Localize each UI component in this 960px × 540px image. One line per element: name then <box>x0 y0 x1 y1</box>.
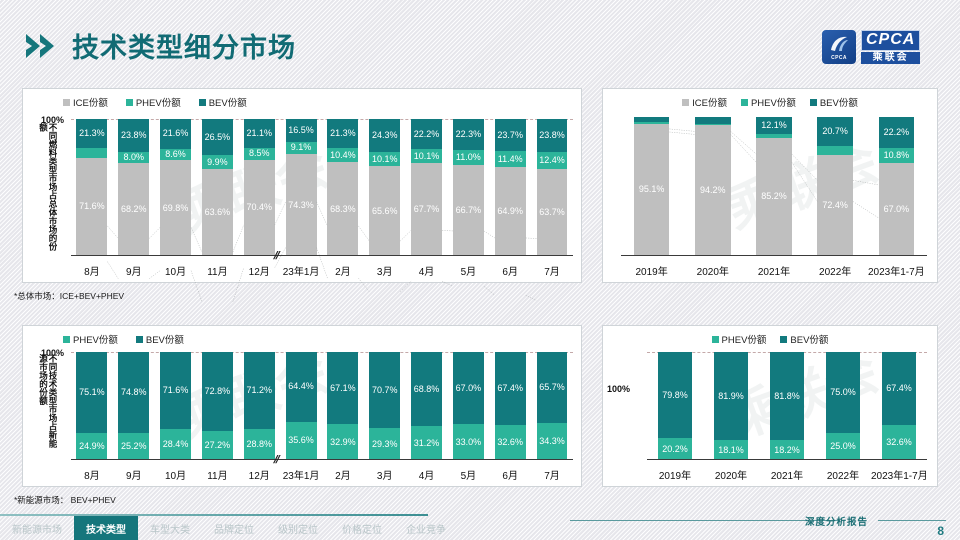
x-axis-label: 2020年 <box>703 467 759 482</box>
bar-segment-phev: 9.1% <box>286 142 317 154</box>
bar-value-label: 33.0% <box>456 438 482 447</box>
bar-value-label: 67.4% <box>497 384 523 393</box>
bar-segment-bev: 22.2% <box>879 117 914 148</box>
bar-value-label: 71.6% <box>163 386 189 395</box>
bar-segment-bev: 79.8% <box>658 352 692 438</box>
x-axis-label: 2021年 <box>759 467 815 482</box>
stacked-bar: 75.1%24.9% <box>76 352 107 460</box>
stacked-bar: 67.1%32.9% <box>327 352 358 460</box>
bar-value-label: 25.0% <box>830 442 856 451</box>
stacked-bar: 79.8%20.2% <box>658 352 692 460</box>
double-chevron-right-icon <box>24 32 66 60</box>
legend-item-ice: ICE份额 <box>682 95 727 109</box>
stacked-bar: 81.9%18.1% <box>714 352 748 460</box>
bar-value-label: 70.4% <box>246 203 272 212</box>
cpca-mark-text: CPCA <box>831 56 847 61</box>
bar-segment-ice: 63.6% <box>202 169 233 256</box>
bar-segment-ice: 63.7% <box>537 169 568 256</box>
x-axis-label: 10月 <box>155 263 197 278</box>
bottom-nav-bar: 新能源市场技术类型车型大类品牌定位级别定位价格定位企业竞争 深度分析报告 8 <box>0 514 960 540</box>
bar-value-label: 31.2% <box>414 439 440 448</box>
bar-segment-phev: 6.9% <box>817 146 852 156</box>
stacked-bar: 22.2%10.1%67.7% <box>411 119 442 256</box>
x-axis-label: 10月 <box>155 467 197 482</box>
bar-segment-ice: 85.2% <box>756 138 791 256</box>
bar-value-label: 21.6% <box>163 129 189 138</box>
bar-segment-phev: 27.2% <box>202 431 233 460</box>
legend-swatch-phev <box>741 99 748 106</box>
bar-value-label: 68.3% <box>330 205 356 214</box>
plot-area-monthly-nev-share: 75.1%24.9%74.8%25.2%71.6%28.4%72.8%27.2%… <box>71 352 573 460</box>
bar-value-label: 24.3% <box>372 131 398 140</box>
bar-value-label: 95.1% <box>639 185 665 194</box>
legend-item-phev: PHEV份额 <box>126 95 181 109</box>
bar-column: 67.4%32.6% <box>871 352 927 460</box>
cpca-logo: CPCA CPCA 乘联会 <box>822 24 942 70</box>
bar-column: 71.6%28.4% <box>155 352 197 460</box>
y-axis-max-label-tl: 100% <box>41 115 64 125</box>
bar-value-label: 18.2% <box>774 446 800 455</box>
bar-segment-phev: 10.1% <box>411 149 442 163</box>
bar-segment-phev: 18.1% <box>714 440 748 460</box>
legend-label-bev: BEV份额 <box>790 332 828 346</box>
bar-column: 65.7%34.3% <box>531 352 573 460</box>
bar-segment-phev: 31.2% <box>411 426 442 460</box>
legend-swatch-bev <box>136 336 143 343</box>
stacked-bar: 22.2%10.8%67.0% <box>879 117 914 256</box>
bar-column: 67.4%32.6% <box>489 352 531 460</box>
bar-value-label: 85.2% <box>761 192 787 201</box>
bar-column: 75.0%25.0% <box>815 352 871 460</box>
stacked-bar: 74.8%25.2% <box>118 352 149 460</box>
bar-value-label: 75.0% <box>830 388 856 397</box>
bar-segment-phev: 24.9% <box>76 433 107 460</box>
bar-value-label: 10.1% <box>414 152 440 161</box>
stacked-bar: 20.7%6.9%72.4% <box>817 117 852 256</box>
nav-tab-6[interactable]: 企业竞争 <box>394 516 458 540</box>
bar-value-label: 20.2% <box>662 445 688 454</box>
bar-segment-phev: 28.4% <box>160 429 191 460</box>
bar-value-label: 63.7% <box>539 208 565 217</box>
legend-item-bev: BEV份额 <box>780 332 828 346</box>
legend-swatch-phev <box>63 336 70 343</box>
stacked-bar: 71.2%28.8% <box>244 352 275 460</box>
legend-swatch-ice <box>682 99 689 106</box>
x-axis-labels-tr: 2019年2020年2021年2022年2023年1-7月 <box>621 263 927 278</box>
bar-column: 79.8%20.2% <box>647 352 703 460</box>
stacked-bar: 64.4%35.6% <box>286 352 317 460</box>
bar-value-label: 71.6% <box>79 202 105 211</box>
x-axis-label: 23年1月 <box>280 263 322 278</box>
x-axis-label: 23年1月 <box>280 467 322 482</box>
x-axis-label: 9月 <box>113 263 155 278</box>
x-axis-label: 2020年 <box>682 263 743 278</box>
x-axis-label: 4月 <box>406 263 448 278</box>
bar-value-label: 68.8% <box>414 385 440 394</box>
bar-value-label: 27.2% <box>205 441 231 450</box>
bar-segment-bev: 21.3% <box>327 119 358 148</box>
bar-value-label: 8.0% <box>123 153 144 162</box>
bar-value-label: 65.7% <box>539 383 565 392</box>
bar-value-label: 21.3% <box>330 129 356 138</box>
legend-label-bev: BEV份额 <box>820 95 858 109</box>
x-axis-label: 2022年 <box>815 467 871 482</box>
bar-segment-bev: 75.1% <box>76 352 107 433</box>
x-axis-label: 2023年1-7月 <box>871 467 927 482</box>
bar-segment-phev: 18.2% <box>770 440 804 460</box>
x-axis-label: 2019年 <box>647 467 703 482</box>
legend-label-bev: BEV份额 <box>146 332 184 346</box>
bar-value-label: 69.8% <box>163 204 189 213</box>
bar-segment-phev: 8.5% <box>244 148 275 160</box>
legend-item-phev: PHEV份额 <box>741 95 796 109</box>
bar-value-label: 64.9% <box>497 207 523 216</box>
bar-column: 4.7%1.0%94.2% <box>682 117 743 256</box>
stacked-bar: 65.7%34.3% <box>537 352 568 460</box>
bar-value-label: 20.7% <box>822 127 848 136</box>
bar-column: 81.9%18.1% <box>703 352 759 460</box>
page-number: 8 <box>937 524 944 538</box>
bar-value-label: 25.2% <box>121 442 147 451</box>
page-title: 技术类型细分市场 <box>72 26 296 65</box>
chart-panel-monthly-fuel-share: ICE份额 PHEV份额 BEV份额 不同燃料类型市场占总体市场的份额 100%… <box>22 88 582 283</box>
chart-panel-yearly-fuel-share: ICE份额 PHEV份额 BEV份额 乘联会 3.9%1.0%95.1%4.7%… <box>602 88 938 283</box>
bar-segment-bev: 81.9% <box>714 352 748 440</box>
bar-segment-phev: 12.4% <box>537 152 568 169</box>
bar-value-label: 12.1% <box>761 121 787 130</box>
bar-segment-bev: 21.3% <box>76 119 107 148</box>
bar-value-label: 10.4% <box>330 151 356 160</box>
legend-item-ice: ICE份额 <box>63 95 108 109</box>
bar-value-label: 64.4% <box>288 382 314 391</box>
bar-value-label: 63.6% <box>205 208 231 217</box>
legend-monthly-fuel-share: ICE份额 PHEV份额 BEV份额 <box>23 95 581 109</box>
bar-segment-phev: 10.8% <box>879 148 914 163</box>
bar-segment-ice: 95.1% <box>634 124 669 256</box>
bar-value-label: 67.7% <box>414 205 440 214</box>
legend-label-phev: PHEV份额 <box>73 332 118 346</box>
x-axis-label: 12月 <box>238 263 280 278</box>
y-axis-max-label-br: 100% <box>607 384 630 394</box>
bar-column: 71.2%28.8% <box>238 352 280 460</box>
bar-value-label: 79.8% <box>662 391 688 400</box>
nav-tab-5[interactable]: 价格定位 <box>330 516 394 540</box>
legend-swatch-bev <box>199 99 206 106</box>
bar-value-label: 72.8% <box>205 387 231 396</box>
bar-segment-phev: 25.2% <box>118 433 149 460</box>
legend-item-bev: BEV份额 <box>136 332 184 346</box>
legend-yearly-fuel-share: ICE份额 PHEV份额 BEV份额 <box>603 95 937 109</box>
bar-value-label: 8.5% <box>249 149 270 158</box>
legend-swatch-phev <box>712 336 719 343</box>
x-axis-label: 7月 <box>531 467 573 482</box>
bar-value-label: 22.2% <box>414 130 440 139</box>
x-axis-labels-br: 2019年2020年2021年2022年2023年1-7月 <box>647 467 927 482</box>
legend-item-bev: BEV份额 <box>199 95 247 109</box>
stacked-bar: 72.8%27.2% <box>202 352 233 460</box>
bar-column: 22.3%11.0%66.7% <box>447 119 489 256</box>
bar-value-label: 23.8% <box>121 131 147 140</box>
bar-column: 23.8%12.4%63.7% <box>531 119 573 256</box>
bar-segment-ice: 68.2% <box>118 163 149 256</box>
bar-segment-ice: 66.7% <box>453 165 484 256</box>
stacked-bar: 23.7%11.4%64.9% <box>495 119 526 256</box>
bar-value-label: 68.2% <box>121 205 147 214</box>
bar-value-label: 74.3% <box>288 201 314 210</box>
bar-column: 68.8%31.2% <box>406 352 448 460</box>
bar-value-label: 26.5% <box>205 133 231 142</box>
bar-segment-bev: 70.7% <box>369 352 400 428</box>
bar-segment-bev: 23.7% <box>495 119 526 151</box>
bar-value-label: 72.4% <box>822 201 848 210</box>
bar-segment-phev: 11.4% <box>495 151 526 167</box>
bar-segment-bev: 67.0% <box>453 352 484 424</box>
x-axis-label: 6月 <box>489 467 531 482</box>
legend-label-ice: ICE份额 <box>692 95 727 109</box>
bar-value-label: 81.8% <box>774 392 800 401</box>
bar-segment-ice: 69.8% <box>160 160 191 256</box>
bar-segment-ice: 68.3% <box>327 162 358 256</box>
cpca-logo-mark: CPCA <box>822 30 856 64</box>
bar-segment-bev: 71.2% <box>244 352 275 429</box>
y-axis-max-label-bl: 100% <box>41 348 64 358</box>
stacked-bar: 26.5%9.9%63.6% <box>202 119 233 256</box>
bar-value-label: 94.2% <box>700 186 726 195</box>
stacked-bar: 71.6%28.4% <box>160 352 191 460</box>
x-axis-label: 2023年1-7月 <box>866 263 927 278</box>
bar-column: 74.8%25.2% <box>113 352 155 460</box>
stacked-bar: 67.4%32.6% <box>495 352 526 460</box>
bar-segment-bev: 21.6% <box>160 119 191 149</box>
bar-segment-phev: 34.3% <box>537 423 568 460</box>
bar-segment-phev: 9.9% <box>202 155 233 169</box>
bar-value-label: 10.8% <box>884 151 910 160</box>
bar-segment-phev: 35.6% <box>286 422 317 460</box>
bar-segment-ice: 71.6% <box>76 158 107 256</box>
bar-value-label: 12.4% <box>539 156 565 165</box>
stacked-bar: 23.8%12.4%63.7% <box>537 119 568 256</box>
bar-value-label: 28.4% <box>163 440 189 449</box>
bar-column: 67.1%32.9% <box>322 352 364 460</box>
nav-tab-0[interactable]: 新能源市场 <box>0 516 74 540</box>
bar-value-label: 65.6% <box>372 207 398 216</box>
bar-segment-bev: 26.5% <box>202 119 233 155</box>
x-axis-line-tl <box>71 255 573 257</box>
slide-root: 技术类型细分市场 CPCA CPCA 乘联会 ICE份额 <box>0 0 960 540</box>
x-axis-label: 2022年 <box>805 263 866 278</box>
x-axis-label: 11月 <box>196 263 238 278</box>
bar-segment-bev: 64.4% <box>286 352 317 422</box>
stacked-bar: 22.3%11.0%66.7% <box>453 119 484 256</box>
bar-column: 26.5%9.9%63.6% <box>196 119 238 256</box>
stacked-bar: 21.3%7.1%71.6% <box>76 119 107 256</box>
bar-value-label: 23.7% <box>497 131 523 140</box>
legend-item-bev: BEV份额 <box>810 95 858 109</box>
bar-column: 70.7%29.3% <box>364 352 406 460</box>
stacked-bar: 3.9%1.0%95.1% <box>634 117 669 256</box>
x-axis-label: 2月 <box>322 263 364 278</box>
bar-segment-bev: 22.3% <box>453 119 484 150</box>
x-axis-label: 2021年 <box>743 263 804 278</box>
bar-segment-ice: 67.7% <box>411 163 442 256</box>
bar-segment-phev: 8.0% <box>118 152 149 163</box>
bar-column: 21.1%8.5%70.4% <box>238 119 280 256</box>
bar-segment-phev: 20.2% <box>658 438 692 460</box>
bar-value-label: 66.7% <box>456 206 482 215</box>
bar-segment-phev: 28.8% <box>244 429 275 460</box>
bar-segment-bev: 20.7% <box>817 117 852 146</box>
bar-column: 75.1%24.9% <box>71 352 113 460</box>
bar-segment-bev: 12.1% <box>756 117 791 134</box>
stacked-bar: 12.1%2.7%85.2% <box>756 117 791 256</box>
footer-rule-right <box>878 520 946 521</box>
plot-area-yearly-fuel-share: 3.9%1.0%95.1%4.7%1.0%94.2%12.1%2.7%85.2%… <box>621 117 927 256</box>
x-axis-label: 2月 <box>322 467 364 482</box>
nav-tab-3[interactable]: 品牌定位 <box>202 516 266 540</box>
bar-column: 21.3%10.4%68.3% <box>322 119 364 256</box>
chart-panel-monthly-nev-share: PHEV份额 BEV份额 不同技术类型市场占新能源市场的份额 100% 乘联会 … <box>22 325 582 487</box>
bar-value-label: 23.8% <box>539 131 565 140</box>
bar-segment-ice: 74.3% <box>286 154 317 256</box>
bar-value-label: 21.3% <box>79 129 105 138</box>
bar-segment-phev: 25.0% <box>826 433 860 460</box>
bar-column: 64.4%35.6% <box>280 352 322 460</box>
bar-segment-phev: 32.9% <box>327 424 358 460</box>
bar-column: 16.5%9.1%74.3% <box>280 119 322 256</box>
bar-column: 20.7%6.9%72.4% <box>805 117 866 256</box>
x-axis-labels-tl: 8月9月10月11月12月23年1月2月3月4月5月6月7月 <box>71 263 573 278</box>
x-axis-label: 6月 <box>489 263 531 278</box>
x-axis-line-br <box>647 459 927 461</box>
bar-value-label: 9.9% <box>207 158 228 167</box>
bar-segment-phev: 11.0% <box>453 150 484 165</box>
bar-value-label: 10.1% <box>372 155 398 164</box>
bar-segment-ice: 67.0% <box>879 163 914 256</box>
bar-column: 3.9%1.0%95.1% <box>621 117 682 256</box>
x-axis-label: 5月 <box>447 467 489 482</box>
bar-segment-phev: 10.4% <box>327 148 358 162</box>
chart-panel-yearly-nev-share: PHEV份额 BEV份额 100% 乘联会 79.8%20.2%81.9%18.… <box>602 325 938 487</box>
bar-column: 81.8%18.2% <box>759 352 815 460</box>
stacked-bar: 21.1%8.5%70.4% <box>244 119 275 256</box>
bar-value-label: 28.8% <box>246 440 272 449</box>
bar-segment-phev: 8.6% <box>160 149 191 161</box>
x-axis-label: 5月 <box>447 263 489 278</box>
x-axis-label: 12月 <box>238 467 280 482</box>
bar-segment-bev: 65.7% <box>537 352 568 423</box>
legend-item-phev: PHEV份额 <box>712 332 767 346</box>
cpca-brand-text: CPCA <box>861 30 920 51</box>
x-axis-line-tr <box>621 255 927 257</box>
x-axis-label: 8月 <box>71 263 113 278</box>
stacked-bar: 70.7%29.3% <box>369 352 400 460</box>
bar-segment-phev: 33.0% <box>453 424 484 460</box>
legend-label-ice: ICE份额 <box>73 95 108 109</box>
nav-tab-4[interactable]: 级别定位 <box>266 516 330 540</box>
bar-value-label: 67.4% <box>886 384 912 393</box>
bar-value-label: 16.5% <box>288 126 314 135</box>
stacked-bar: 21.3%10.4%68.3% <box>327 119 358 256</box>
bar-value-label: 67.0% <box>456 384 482 393</box>
bar-segment-bev: 67.4% <box>495 352 526 425</box>
bar-column: 12.1%2.7%85.2% <box>743 117 804 256</box>
legend-item-phev: PHEV份额 <box>63 332 118 346</box>
bar-value-label: 71.2% <box>246 386 272 395</box>
nav-tab-1[interactable]: 技术类型 <box>74 516 138 540</box>
bar-value-label: 32.9% <box>330 438 356 447</box>
legend-swatch-phev <box>126 99 133 106</box>
x-axis-label: 8月 <box>71 467 113 482</box>
y-axis-title-monthly-fuel-share: 不同燃料类型市场占总体市场的份额 <box>27 123 57 253</box>
bar-column: 23.8%8.0%68.2% <box>113 119 155 256</box>
bar-value-label: 74.8% <box>121 388 147 397</box>
legend-label-phev: PHEV份额 <box>751 95 796 109</box>
x-axis-label: 4月 <box>406 467 448 482</box>
bar-segment-ice: 94.2% <box>695 125 730 256</box>
legend-label-phev: PHEV份额 <box>722 332 767 346</box>
bar-value-label: 21.1% <box>246 129 272 138</box>
stacked-bar: 24.3%10.1%65.6% <box>369 119 400 256</box>
bar-value-label: 67.0% <box>884 205 910 214</box>
bar-segment-bev: 24.3% <box>369 119 400 152</box>
x-axis-label: 3月 <box>364 263 406 278</box>
nav-tab-2[interactable]: 车型大类 <box>138 516 202 540</box>
bar-value-label: 75.1% <box>79 388 105 397</box>
bar-column: 22.2%10.8%67.0% <box>866 117 927 256</box>
stacked-bar: 67.0%33.0% <box>453 352 484 460</box>
bar-value-label: 29.3% <box>372 440 398 449</box>
x-axis-label: 11月 <box>196 467 238 482</box>
bar-column: 24.3%10.1%65.6% <box>364 119 406 256</box>
bar-value-label: 8.6% <box>165 150 186 159</box>
footnote-overall-market: *总体市场：ICE+BEV+PHEV <box>14 290 124 302</box>
cpca-brand-cn-text: 乘联会 <box>861 52 920 65</box>
bar-segment-bev: 67.4% <box>882 352 916 425</box>
bar-column: 21.3%7.1%71.6% <box>71 119 113 256</box>
bar-value-label: 22.2% <box>884 128 910 137</box>
bar-segment-bev: 74.8% <box>118 352 149 433</box>
bar-segment-bev: 16.5% <box>286 119 317 142</box>
bar-segment-phev: 7.1% <box>76 148 107 158</box>
stacked-bar: 16.5%9.1%74.3% <box>286 119 317 256</box>
bar-segment-bev: 68.8% <box>411 352 442 426</box>
y-axis-title-monthly-nev-share: 不同技术类型市场占新能源市场的份额 <box>27 354 57 454</box>
legend-label-bev: BEV份额 <box>209 95 247 109</box>
legend-swatch-ice <box>63 99 70 106</box>
slide-header: 技术类型细分市场 CPCA CPCA 乘联会 <box>0 14 960 64</box>
bar-value-label: 11.4% <box>498 155 523 164</box>
stacked-bar: 4.7%1.0%94.2% <box>695 117 730 256</box>
stacked-bar: 21.6%8.6%69.8% <box>160 119 191 256</box>
bar-value-label: 81.9% <box>718 392 744 401</box>
stacked-bar: 23.8%8.0%68.2% <box>118 119 149 256</box>
bar-segment-phev: 32.6% <box>495 425 526 460</box>
bar-segment-bev: 22.2% <box>411 119 442 149</box>
report-label: 深度分析报告 <box>805 514 868 528</box>
bar-segment-bev: 71.6% <box>160 352 191 429</box>
x-axis-line-bl <box>71 459 573 461</box>
bar-segment-bev: 23.8% <box>537 119 568 152</box>
x-axis-label: 9月 <box>113 467 155 482</box>
bar-value-label: 22.3% <box>456 130 482 139</box>
bar-segment-bev: 75.0% <box>826 352 860 433</box>
bottom-nav-tabs[interactable]: 新能源市场技术类型车型大类品牌定位级别定位价格定位企业竞争 <box>0 516 458 540</box>
bar-segment-phev: 32.6% <box>882 425 916 460</box>
bar-segment-ice: 72.4% <box>817 155 852 256</box>
x-axis-labels-bl: 8月9月10月11月12月23年1月2月3月4月5月6月7月 <box>71 467 573 482</box>
bar-value-label: 32.6% <box>497 438 523 447</box>
bar-segment-bev: 72.8% <box>202 352 233 431</box>
